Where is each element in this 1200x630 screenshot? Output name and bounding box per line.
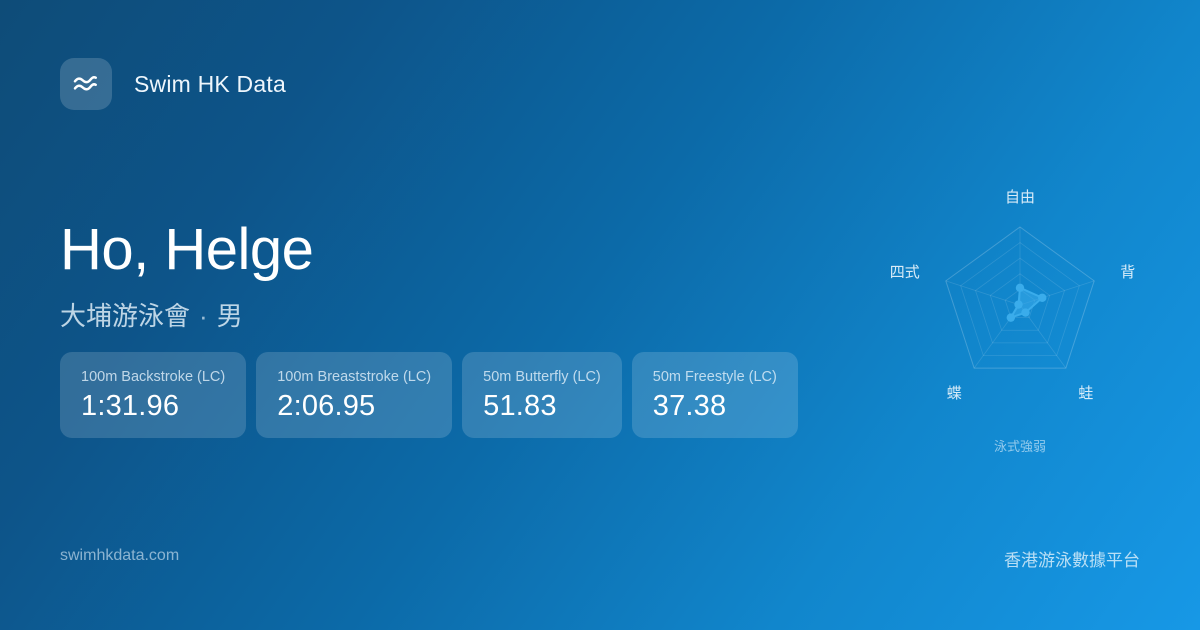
stat-card[interactable]: 50m Freestyle(LC) 37.38 [632, 352, 798, 438]
radar-axis-label: 背 [1120, 263, 1135, 281]
radar-axis-label: 蛙 [1078, 384, 1093, 402]
stat-card-event: 100m Breaststroke [277, 369, 399, 385]
stat-card-unit: (LC) [403, 369, 431, 385]
brand-header[interactable]: Swim HK Data [60, 58, 286, 110]
stat-card-event: 50m Freestyle [653, 369, 745, 385]
radar-caption: 泳式強弱 [994, 440, 1046, 455]
radar-data-point [1038, 294, 1046, 302]
radar-axis-line [946, 281, 1020, 305]
page-title: Ho, Helge [60, 218, 313, 282]
stat-card[interactable]: 50m Butterfly(LC) 51.83 [462, 352, 622, 438]
stat-card-value: 2:06.95 [277, 390, 431, 423]
athlete-hero: Ho, Helge 大埔游泳會·男 [60, 218, 313, 333]
stat-card-label: 50m Freestyle(LC) [653, 369, 777, 385]
athlete-club: 大埔游泳會 [60, 301, 190, 331]
stat-card[interactable]: 100m Backstroke(LC) 1:31.96 [60, 352, 246, 438]
radar-data-point [1021, 308, 1029, 316]
radar-chart: 自由背蛙蝶四式泳式強弱 [870, 160, 1170, 480]
stat-card-value: 1:31.96 [81, 390, 225, 423]
brand-name: Swim HK Data [134, 71, 286, 98]
footer-tagline: 香港游泳數據平台 [1004, 546, 1140, 571]
stat-card-label: 50m Butterfly(LC) [483, 369, 601, 385]
stat-card-unit: (LC) [197, 369, 225, 385]
stat-card-event: 50m Butterfly [483, 369, 568, 385]
stat-card-label: 100m Breaststroke(LC) [277, 369, 431, 385]
radar-data-point [1016, 284, 1024, 292]
radar-axis-label: 四式 [890, 263, 920, 281]
stat-card-unit: (LC) [573, 369, 601, 385]
radar-data-point [1014, 300, 1022, 308]
stat-card-unit: (LC) [749, 369, 777, 385]
radar-axis-label: 蝶 [947, 384, 962, 402]
stat-card-value: 51.83 [483, 390, 601, 423]
wave-approx-icon [60, 58, 112, 110]
stat-card-label: 100m Backstroke(LC) [81, 369, 225, 385]
athlete-gender: 男 [217, 301, 243, 331]
radar-axis-label: 自由 [1005, 188, 1035, 206]
footer-site-url[interactable]: swimhkdata.com [60, 547, 179, 565]
stat-card-list: 100m Backstroke(LC) 1:31.96 100m Breasts… [60, 352, 798, 438]
stat-card[interactable]: 100m Breaststroke(LC) 2:06.95 [256, 352, 452, 438]
radar-data-point [1007, 313, 1015, 321]
stat-card-value: 37.38 [653, 390, 777, 423]
meta-separator: · [199, 301, 208, 331]
athlete-meta: 大埔游泳會·男 [60, 296, 313, 333]
stat-card-event: 100m Backstroke [81, 369, 193, 385]
